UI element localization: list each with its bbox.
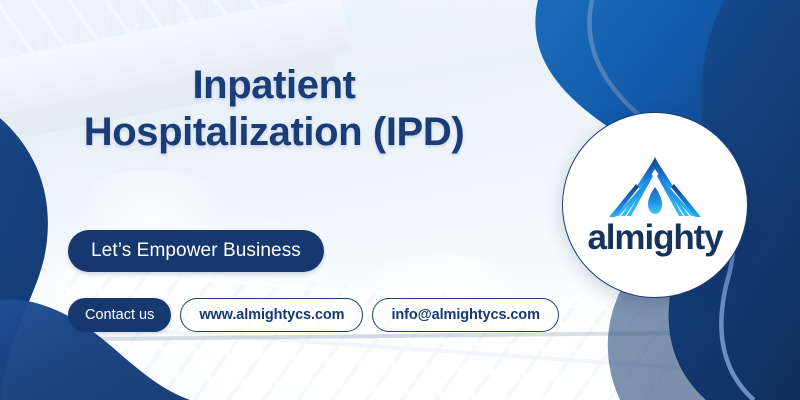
brand-wordmark: almighty [587, 220, 722, 255]
brand-logo-badge: almighty [562, 112, 748, 298]
email-pill[interactable]: info@almightycs.com [372, 298, 558, 332]
contact-us-label: Contact us [68, 298, 171, 332]
banner-title: Inpatient Hospitalization (IPD) [0, 62, 548, 156]
almighty-peak-flame-icon [609, 156, 701, 218]
promo-banner: Inpatient Hospitalization (IPD) Let’s Em… [0, 0, 800, 400]
left-wave-decoration [0, 0, 190, 400]
title-line-1: Inpatient [192, 63, 355, 107]
tagline-pill: Let’s Empower Business [68, 230, 324, 272]
website-pill[interactable]: www.almightycs.com [180, 298, 363, 332]
title-line-2: Hospitalization (IPD) [0, 109, 548, 156]
contact-row: Contact us www.almightycs.com info@almig… [68, 298, 559, 332]
